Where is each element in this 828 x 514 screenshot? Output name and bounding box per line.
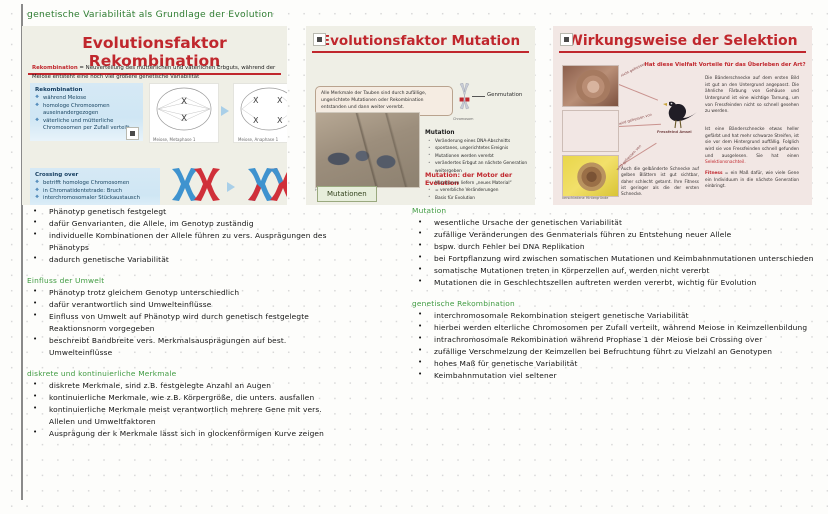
arrow-right-icon: [221, 106, 229, 116]
slide-card-selektion[interactable]: Wirkungsweise der Selektion verschiedene…: [553, 26, 812, 205]
card3-p2-highlight: Selektionsnachteil.: [705, 160, 746, 165]
card3-paragraph-3: Fitness = ein Maß dafür, wie viele Gene …: [705, 171, 799, 191]
list-item: somatische Mutationen treten in Körperze…: [412, 265, 822, 277]
chromosome-leader-line: [472, 96, 485, 97]
meiosis-anaphase-icon: X X X X: [234, 84, 287, 136]
list-item-continuation: Allelen und Umweltfaktoren: [27, 416, 407, 428]
svg-text:X: X: [181, 114, 187, 124]
powerpoint-badge-icon-2[interactable]: [313, 33, 326, 46]
powerpoint-badge-icon[interactable]: [126, 127, 139, 140]
arrow-right-icon-2: [227, 182, 235, 192]
card3-bird-caption: Fressfeind Amsel: [657, 130, 692, 134]
list-item: zufällige Verschmelzung der Keimzellen b…: [412, 346, 822, 358]
list-item: dadurch genetische Variabilität: [27, 254, 407, 266]
notes-heading: genetische Rekombination: [412, 299, 822, 308]
notes-gap: [27, 359, 407, 369]
notes-heading: Einfluss der Umwelt: [27, 276, 407, 285]
card2-list-motor: Mutationen liefern „neues Material“ = ve…: [428, 180, 533, 202]
notebook-page: genetische Variabilität als Grundlage de…: [0, 0, 828, 514]
list-item: Mutationen liefern „neues Material“: [428, 180, 533, 187]
card1-box2-title: Crossing over: [30, 168, 160, 180]
list-item-continuation: Reaktionsnorm vorgegeben: [27, 323, 407, 335]
list-item: bei Fortpflanzung wird zwischen somatisc…: [412, 253, 822, 265]
list-item: interchromosomaler Stückaustausch: [30, 195, 160, 203]
list-item: Basis für Evolution: [428, 195, 533, 202]
card3-paragraph-2: Ist eine Bänderschnecke etwas heller gef…: [705, 127, 799, 167]
list-item: spontanes, ungerichtetes Ereignis: [428, 145, 533, 152]
card1-caption-metaphase: Meiose, Metaphase 1: [153, 137, 195, 142]
notes-heading: Mutation: [412, 206, 822, 215]
card2-title-rule: [312, 51, 529, 53]
card2-genmutation-label: Genmutation: [487, 92, 522, 98]
list-item: kontinuierliche Merkmale, wie z.B. Körpe…: [27, 392, 407, 404]
notes-list: interchromosomale Rekombination steigert…: [412, 310, 822, 382]
list-item: dafür verantwortlich sind Umwelteinflüss…: [27, 299, 407, 311]
crossover-chromosomes-icon: [244, 167, 287, 203]
list-item: hohes Maß für genetische Variabilität: [412, 358, 822, 370]
list-item: in Chromatidentetrade: Bruch: [30, 188, 160, 196]
list-item: wesentliche Ursache der genetischen Vari…: [412, 217, 822, 229]
card1-cell-metaphase: X X: [149, 83, 219, 143]
list-item: homologe Chromosomen auseinandergezogen: [30, 103, 143, 118]
list-item: dafür Genvarianten, die Allele, im Genot…: [27, 218, 407, 230]
list-item: Mutationen werden vererbt: [428, 153, 533, 160]
card3-paragraph-1: Die Bänderschnecke auf dem ersten Bild i…: [705, 76, 799, 116]
bird-icon: [661, 98, 701, 132]
list-item: Einfluss von Umwelt auf Phänotyp wird du…: [27, 311, 407, 323]
list-item: Keimbahnmutation viel seltener: [412, 370, 822, 382]
card3-fitness-term: Fitness: [705, 171, 723, 176]
notes-list: diskrete Merkmale, sind z.B. festgelegte…: [27, 380, 407, 440]
chromosome-icon: [458, 83, 471, 115]
snail-photo-1: [562, 65, 619, 107]
list-item: während Meiose: [30, 95, 143, 103]
notes-heading: diskrete und kontinuierliche Merkmale: [27, 369, 407, 378]
list-item: Ausprägung der k Merkmale lässt sich in …: [27, 428, 407, 440]
card2-head-mutation: Mutation: [425, 130, 454, 136]
powerpoint-badge-icon-3[interactable]: [560, 33, 573, 46]
card3-paragraph-left: Auch die gelbänderte Schnecke auf gelben…: [621, 166, 699, 197]
svg-text:X: X: [181, 97, 187, 107]
slide-card-mutation[interactable]: Evolutionsfaktor Mutation Alle Merkmale …: [306, 26, 535, 205]
card3-title: Wirkungsweise der Selektion: [553, 26, 812, 49]
list-item: diskrete Merkmale, sind z.B. festgelegte…: [27, 380, 407, 392]
notes-list: Phänotyp trotz gleichem Genotyp untersch…: [27, 287, 407, 359]
card2-list-mutation: Veränderung eines DNA-Abschnitts spontan…: [428, 138, 533, 175]
list-item: = vererbliche Veränderungen: [428, 187, 533, 194]
notes-gap: [412, 289, 822, 299]
list-item: hierbei werden elterliche Chromosomen pe…: [412, 322, 822, 334]
card2-chromosome-caption: Chromosom: [453, 117, 473, 121]
homologous-chromosomes-icon: [168, 167, 222, 203]
svg-text:X: X: [253, 96, 259, 105]
list-item: Phänotyp genetisch festgelegt: [27, 206, 407, 218]
notes-list: wesentliche Ursache der genetischen Vari…: [412, 217, 822, 289]
notes-gap: [27, 266, 407, 276]
list-item: kontinuierliche Merkmale meist verantwor…: [27, 404, 407, 416]
card1-box-crossingover: Crossing over betrifft homologe Chromoso…: [30, 168, 160, 205]
card3-p2-text: Ist eine Bänderschnecke etwas heller gef…: [705, 127, 799, 159]
list-item: Veränderung eines DNA-Abschnitts: [428, 138, 533, 145]
card1-lead: Rekombination = Neuverteilung des mütter…: [32, 64, 277, 82]
notes-column-right: Mutationwesentliche Ursache der genetisc…: [412, 206, 822, 382]
card3-question: Hat diese Vielfalt Vorteile für das Über…: [641, 62, 809, 68]
card2-title: Evolutionsfaktor Mutation: [306, 26, 535, 49]
page-title: genetische Variabilität als Grundlage de…: [27, 9, 273, 20]
mutationen-button[interactable]: Mutationen: [317, 186, 377, 202]
pigeon-photo: [315, 112, 420, 188]
card1-box1-title: Rekombination: [30, 83, 143, 95]
snail-photo-2: [562, 110, 619, 152]
card1-cell-anaphase: X X X X: [233, 83, 287, 143]
list-item-continuation: Phänotyps: [27, 242, 407, 254]
card1-box2-list: betrifft homologe Chromosomen in Chromat…: [30, 180, 160, 203]
svg-text:X: X: [277, 116, 283, 125]
list-item: interchromosomale Rekombination steigert…: [412, 310, 822, 322]
card1-caption-anaphase: Meiose, Anaphase 1: [238, 137, 278, 142]
slide-card-rekombination[interactable]: Evolutionsfaktor Rekombination Rekombina…: [22, 26, 287, 205]
svg-text:X: X: [277, 96, 283, 105]
meiosis-metaphase-icon: X X: [150, 84, 218, 136]
list-item: Mutationen die in Geschlechtszellen auft…: [412, 277, 822, 289]
list-item: zufällige Veränderungen des Genmaterials…: [412, 229, 822, 241]
list-item: Phänotyp trotz gleichem Genotyp untersch…: [27, 287, 407, 299]
list-item: intrachromosomale Rekombination während …: [412, 334, 822, 346]
list-item: individuelle Kombinationen der Allele fü…: [27, 230, 407, 242]
svg-text:X: X: [253, 116, 259, 125]
list-item-continuation: Umwelteinflüsse: [27, 347, 407, 359]
notes-column-left: Phänotyp genetisch festgelegtdafür Genva…: [27, 206, 407, 440]
card1-lead-bold: Rekombination: [32, 65, 78, 71]
list-item: beschreibt Bandbreite vers. Merkmalsausp…: [27, 335, 407, 347]
card1-caption-stueck: Stückaustausch: [251, 204, 281, 205]
notes-list: Phänotyp genetisch festgelegtdafür Genva…: [27, 206, 407, 266]
card3-snail-caption: verschiedene Hintergründe: [562, 196, 608, 200]
card1-caption-homolog: Homologe Chromosomen: [165, 204, 213, 205]
arrow-line-1: [619, 84, 658, 100]
list-item: bspw. durch Fehler bei DNA Replikation: [412, 241, 822, 253]
list-item: betrifft homologe Chromosomen: [30, 180, 160, 188]
card3-title-rule: [559, 51, 806, 53]
snail-photo-3: [562, 155, 619, 197]
